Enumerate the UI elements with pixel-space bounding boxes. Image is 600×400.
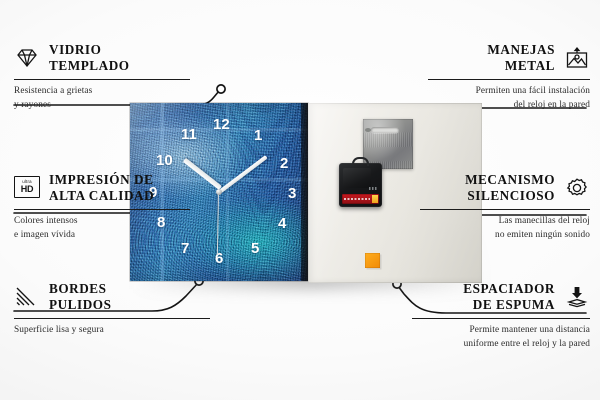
feature-metal-handles: MANEJASMETAL Permiten una fácil instalac…: [370, 42, 590, 112]
title-line-2: PULIDOS: [49, 297, 111, 312]
clock-numeral-5: 5: [251, 241, 259, 256]
feature-divider: [14, 318, 210, 319]
clock-edge-shadow: [301, 103, 308, 281]
title-line-1: ESPACIADOR: [463, 281, 555, 296]
feature-high-quality-print: ultra HD IMPRESIÓN DEALTA CALIDAD Colore…: [14, 172, 234, 242]
title-line-1: IMPRESIÓN DE: [49, 172, 153, 187]
clock-numeral-10: 10: [156, 153, 173, 168]
ultra-hd-main-text: HD: [21, 185, 34, 194]
feature-header: ultra HD IMPRESIÓN DEALTA CALIDAD: [14, 172, 234, 204]
mechanism-body: [343, 168, 371, 188]
title-line-1: MANEJAS: [487, 42, 555, 57]
feature-title: MANEJASMETAL: [487, 42, 555, 74]
arrow-down-layers-icon: [564, 285, 590, 309]
feature-foam-spacer: ESPACIADORDE ESPUMA Permite mantener una…: [370, 281, 590, 351]
title-line-1: MECANISMO: [465, 172, 555, 187]
feature-description: Resistencia a grietasy rayones: [14, 85, 234, 111]
hanger-slot: [371, 127, 399, 133]
infographic-stage: 12 1 2 3 4 5 6 7 8 9 10 11: [0, 0, 600, 400]
feature-header: MECANISMOSILENCIOSO: [370, 172, 590, 204]
clock-numeral-2: 2: [280, 156, 288, 171]
feature-polished-edges: BORDESPULIDOS Superficie lisa y segura: [14, 281, 234, 338]
title-line-2: TEMPLADO: [49, 58, 130, 73]
feature-title: IMPRESIÓN DEALTA CALIDAD: [49, 172, 154, 204]
title-line-2: METAL: [505, 58, 555, 73]
clock-numeral-1: 1: [254, 128, 262, 143]
feature-divider: [428, 79, 590, 80]
diamond-icon: [14, 46, 40, 70]
feature-description: Permite mantener una distanciauniforme e…: [370, 324, 590, 350]
feature-description: Colores intensose imagen vívida: [14, 215, 234, 241]
feature-description: Permiten una fácil instalacióndel reloj …: [370, 85, 590, 111]
feature-title: VIDRIOTEMPLADO: [49, 42, 130, 74]
feature-header: VIDRIOTEMPLADO: [14, 42, 234, 74]
title-line-1: VIDRIO: [49, 42, 101, 57]
clock-numeral-3: 3: [288, 186, 296, 201]
feature-silent-mechanism: MECANISMOSILENCIOSO Las manecillas del r…: [370, 172, 590, 242]
clock-numeral-12: 12: [213, 117, 230, 132]
clock-numeral-11: 11: [181, 127, 197, 142]
feature-title: ESPACIADORDE ESPUMA: [463, 281, 555, 313]
feature-header: ESPACIADORDE ESPUMA: [370, 281, 590, 313]
feature-header: BORDESPULIDOS: [14, 281, 234, 313]
gear-icon: [564, 176, 590, 200]
feature-header: MANEJASMETAL: [370, 42, 590, 74]
metal-hanger-bracket: [363, 119, 413, 169]
title-line-2: DE ESPUMA: [473, 297, 555, 312]
title-line-1: BORDES: [49, 281, 107, 296]
feature-tempered-glass: VIDRIOTEMPLADO Resistencia a grietasy ra…: [14, 42, 234, 112]
feature-title: BORDESPULIDOS: [49, 281, 111, 313]
title-line-2: SILENCIOSO: [467, 188, 555, 203]
title-line-2: ALTA CALIDAD: [49, 188, 154, 203]
feature-title: MECANISMOSILENCIOSO: [465, 172, 555, 204]
ultra-hd-icon: ultra HD: [14, 176, 40, 200]
clock-numeral-4: 4: [278, 216, 286, 231]
diagonal-lines-icon: [14, 285, 40, 309]
foam-spacer-square: [365, 253, 380, 268]
feature-divider: [420, 209, 590, 210]
feature-divider: [14, 79, 190, 80]
feature-description: Superficie lisa y segura: [14, 324, 234, 337]
feature-divider: [412, 318, 590, 319]
clock-numeral-7: 7: [181, 241, 189, 256]
mechanism-hanger-loop: [352, 157, 369, 166]
feature-divider: [14, 209, 190, 210]
feature-description: Las manecillas del relojno emiten ningún…: [370, 215, 590, 241]
hanging-picture-icon: [564, 46, 590, 70]
